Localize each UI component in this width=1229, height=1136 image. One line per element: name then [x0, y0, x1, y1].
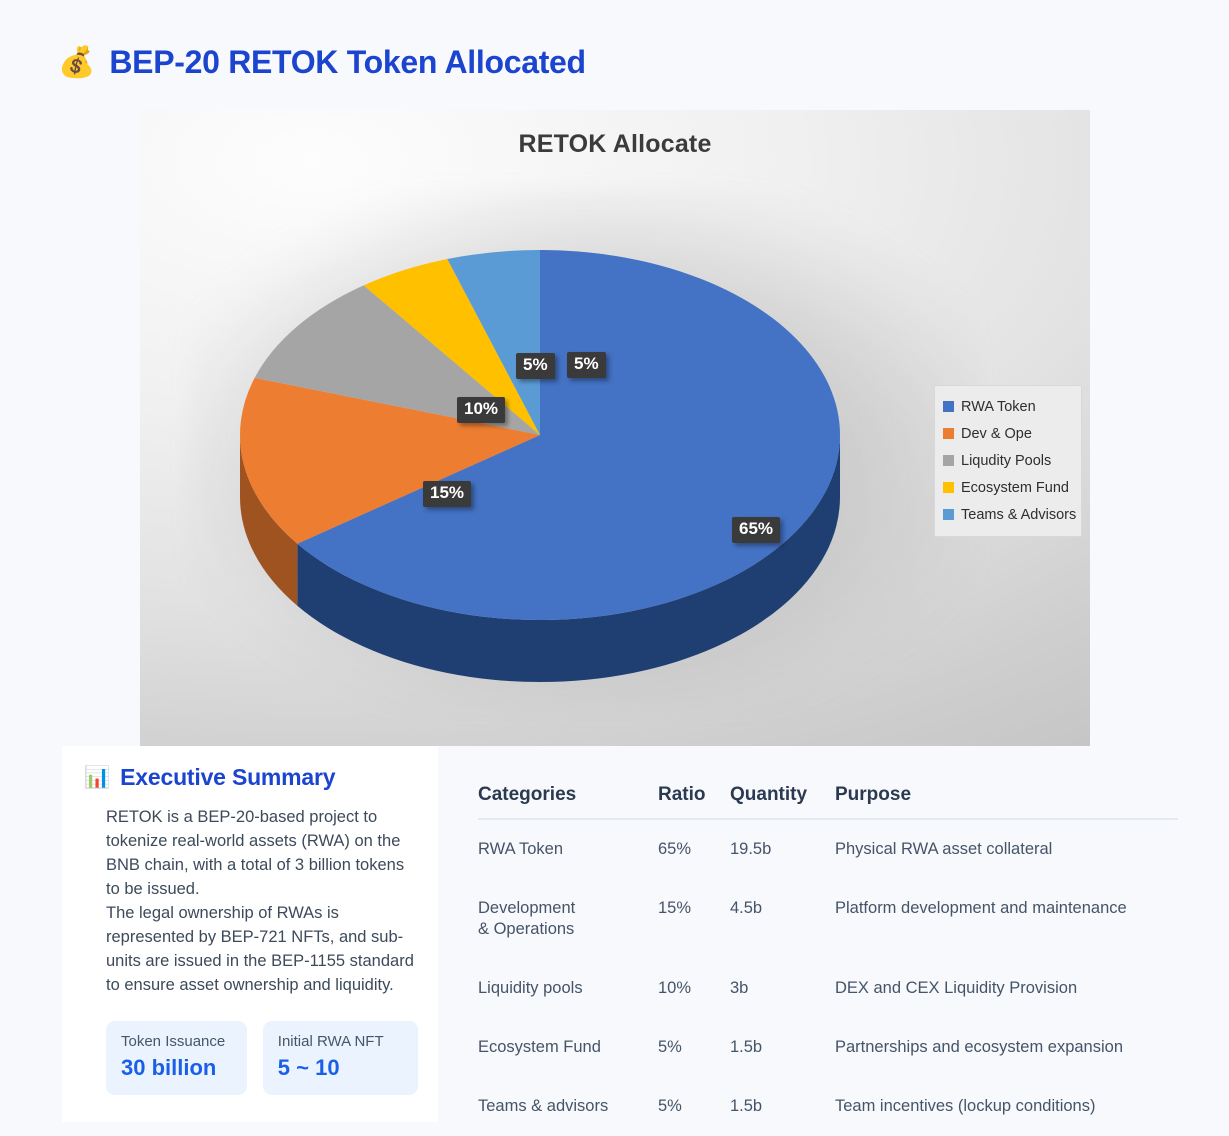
executive-summary-header: 📊 Executive Summary	[84, 764, 418, 791]
executive-summary-body: RETOK is a BEP-20-based project to token…	[84, 805, 418, 997]
cell-ratio: 10%	[658, 959, 730, 1018]
cell-purpose: Physical RWA asset collateral	[835, 819, 1178, 879]
stat-label: Token Issuance	[121, 1033, 232, 1050]
executive-summary-panel: 📊 Executive Summary RETOK is a BEP-20-ba…	[62, 746, 438, 1122]
table-row[interactable]: Teams & advisors5%1.5bTeam incentives (l…	[478, 1077, 1178, 1136]
legend-item[interactable]: Dev & Ope	[943, 420, 1075, 447]
stat-card-group: Token Issuance 30 billion Initial RWA NF…	[84, 1021, 418, 1095]
table-row[interactable]: Liquidity pools10%3bDEX and CEX Liquidit…	[478, 959, 1178, 1018]
stat-card-token-issuance: Token Issuance 30 billion	[106, 1021, 247, 1095]
cell-category: Liquidity pools	[478, 959, 658, 1018]
column-header-purpose: Purpose	[835, 784, 1178, 819]
pie-chart-svg	[210, 185, 950, 715]
bar-chart-icon: 📊	[84, 767, 110, 788]
page-header: 💰 BEP-20 RETOK Token Allocated	[58, 44, 586, 81]
cell-purpose: Partnerships and ecosystem expansion	[835, 1018, 1178, 1077]
legend-label: RWA Token	[961, 399, 1036, 415]
table-header-row: Categories Ratio Quantity Purpose	[478, 784, 1178, 819]
legend-item[interactable]: RWA Token	[943, 393, 1075, 420]
chart-title: RETOK Allocate	[140, 130, 1090, 159]
summary-paragraph: The legal ownership of RWAs is represent…	[106, 901, 414, 997]
legend-swatch-icon	[943, 455, 954, 466]
cell-quantity: 1.5b	[730, 1018, 835, 1077]
table-row[interactable]: Ecosystem Fund5%1.5bPartnerships and eco…	[478, 1018, 1178, 1077]
stat-card-initial-rwa-nft: Initial RWA NFT 5 ~ 10	[263, 1021, 418, 1095]
legend-label: Liqudity Pools	[961, 453, 1051, 469]
allocation-table-wrapper: Categories Ratio Quantity Purpose RWA To…	[478, 784, 1078, 1136]
table-row[interactable]: Development& Operations15%4.5bPlatform d…	[478, 879, 1178, 959]
cell-category: Ecosystem Fund	[478, 1018, 658, 1077]
allocation-table: Categories Ratio Quantity Purpose RWA To…	[478, 784, 1178, 1136]
cell-quantity: 3b	[730, 959, 835, 1018]
chart-panel: RETOK Allocate 65% 15% 10% 5% 5% RWA Tok…	[140, 110, 1090, 746]
column-header-categories: Categories	[478, 784, 658, 819]
table-row[interactable]: RWA Token65%19.5bPhysical RWA asset coll…	[478, 819, 1178, 879]
cell-ratio: 5%	[658, 1018, 730, 1077]
pie-label-rwa-token: 65%	[732, 517, 780, 543]
legend-label: Dev & Ope	[961, 426, 1032, 442]
summary-paragraph: RETOK is a BEP-20-based project to token…	[106, 805, 414, 901]
legend-swatch-icon	[943, 482, 954, 493]
cell-purpose: DEX and CEX Liquidity Provision	[835, 959, 1178, 1018]
allocation-table-body: RWA Token65%19.5bPhysical RWA asset coll…	[478, 819, 1178, 1136]
stat-value: 5 ~ 10	[278, 1055, 403, 1081]
cell-quantity: 4.5b	[730, 879, 835, 959]
pie-label-ecosystem-fund: 5%	[516, 353, 555, 379]
cell-category: Development& Operations	[478, 879, 658, 959]
pie-label-teams-advisors: 5%	[567, 352, 606, 378]
cell-quantity: 19.5b	[730, 819, 835, 879]
cell-category: RWA Token	[478, 819, 658, 879]
column-header-ratio: Ratio	[658, 784, 730, 819]
cell-category: Teams & advisors	[478, 1077, 658, 1136]
legend-label: Teams & Advisors	[961, 507, 1076, 523]
cell-purpose: Platform development and maintenance	[835, 879, 1178, 959]
pie-label-liquidity-pools: 10%	[457, 397, 505, 423]
cell-ratio: 15%	[658, 879, 730, 959]
allocation-table-head: Categories Ratio Quantity Purpose	[478, 784, 1178, 819]
legend-label: Ecosystem Fund	[961, 480, 1069, 496]
page-title: BEP-20 RETOK Token Allocated	[109, 44, 585, 81]
legend-swatch-icon	[943, 509, 954, 520]
stat-value: 30 billion	[121, 1055, 232, 1081]
legend-item[interactable]: Teams & Advisors	[943, 501, 1075, 528]
legend-item[interactable]: Liqudity Pools	[943, 447, 1075, 474]
cell-ratio: 65%	[658, 819, 730, 879]
executive-summary-title: Executive Summary	[120, 764, 335, 791]
pie-label-dev-ope: 15%	[423, 481, 471, 507]
stat-label: Initial RWA NFT	[278, 1033, 403, 1050]
money-bag-icon: 💰	[58, 48, 95, 78]
legend-swatch-icon	[943, 428, 954, 439]
column-header-quantity: Quantity	[730, 784, 835, 819]
cell-purpose: Team incentives (lockup conditions)	[835, 1077, 1178, 1136]
legend-swatch-icon	[943, 401, 954, 412]
chart-legend: RWA TokenDev & OpeLiqudity PoolsEcosyste…	[934, 385, 1082, 537]
legend-item[interactable]: Ecosystem Fund	[943, 474, 1075, 501]
cell-quantity: 1.5b	[730, 1077, 835, 1136]
pie-chart: 65% 15% 10% 5% 5%	[210, 185, 950, 715]
cell-ratio: 5%	[658, 1077, 730, 1136]
